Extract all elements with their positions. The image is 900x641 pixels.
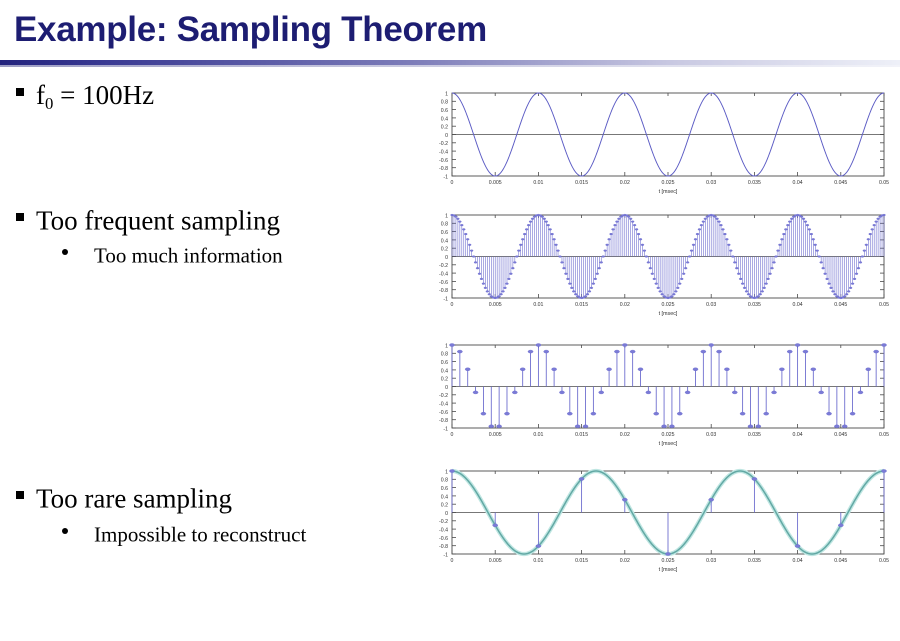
svg-text:0.4: 0.4 (441, 238, 448, 244)
svg-text:0.03: 0.03 (706, 302, 716, 308)
svg-text:0.8: 0.8 (441, 222, 448, 228)
plot-reconstruct: -1-0.8-0.6-0.4-0.200.20.40.60.8100.0050.… (418, 464, 890, 580)
svg-text:0.04: 0.04 (793, 558, 803, 564)
svg-text:0.2: 0.2 (441, 503, 448, 509)
svg-text:0.025: 0.025 (662, 558, 675, 564)
svg-text:0.6: 0.6 (441, 108, 448, 114)
chart-aliased-reconstruction: -1-0.8-0.6-0.4-0.200.20.40.60.8100.0050.… (418, 464, 890, 580)
plot-undersampled: -1-0.8-0.6-0.4-0.200.20.40.60.8100.0050.… (418, 338, 890, 454)
svg-text:0.05: 0.05 (879, 302, 889, 308)
bullet-too-rare: Too rare sampling (16, 481, 232, 514)
svg-text:0.005: 0.005 (489, 180, 502, 186)
svg-text:0.2: 0.2 (441, 377, 448, 383)
svg-text:0.04: 0.04 (793, 302, 803, 308)
bullet-too-frequent: Too frequent sampling (16, 203, 280, 236)
square-bullet-icon (16, 491, 24, 499)
svg-text:0.035: 0.035 (748, 432, 761, 438)
svg-text:0.02: 0.02 (620, 558, 630, 564)
svg-text:-1: -1 (443, 552, 448, 558)
svg-text:0: 0 (451, 432, 454, 438)
svg-text:-0.8: -0.8 (439, 418, 448, 424)
chart-undersampled-stem: -1-0.8-0.6-0.4-0.200.20.40.60.8100.0050.… (418, 338, 890, 454)
svg-text:-0.6: -0.6 (439, 158, 448, 164)
bullet-label-too-much-information: Too much information (94, 244, 283, 268)
svg-text:1: 1 (445, 469, 448, 475)
bullet-label-frequency: f0 = 100Hz (36, 80, 154, 110)
svg-text:0.015: 0.015 (575, 180, 588, 186)
svg-text:0.4: 0.4 (441, 116, 448, 122)
svg-text:1: 1 (445, 343, 448, 349)
bullet-frequency: f0 = 100Hz (16, 78, 154, 111)
svg-text:0.035: 0.035 (748, 558, 761, 564)
svg-text:0.045: 0.045 (834, 302, 847, 308)
svg-text:0.015: 0.015 (575, 432, 588, 438)
title-divider-shadow (0, 65, 900, 67)
square-bullet-icon (16, 213, 24, 221)
chart-oversampled-stem: -1-0.8-0.6-0.4-0.200.20.40.60.8100.0050.… (418, 208, 890, 324)
slide-root: Example: Sampling Theorem f0 = 100Hz Too… (0, 0, 900, 641)
svg-text:0.005: 0.005 (489, 558, 502, 564)
svg-text:0.8: 0.8 (441, 100, 448, 106)
svg-text:0.03: 0.03 (706, 558, 716, 564)
svg-text:0.02: 0.02 (620, 432, 630, 438)
svg-text:-1: -1 (443, 296, 448, 302)
chart-continuous-wave: -1-0.8-0.6-0.4-0.200.20.40.60.8100.0050.… (418, 86, 890, 202)
svg-text:0.05: 0.05 (879, 558, 889, 564)
svg-text:0.045: 0.045 (834, 558, 847, 564)
svg-text:-0.6: -0.6 (439, 410, 448, 416)
plot-oversampled: -1-0.8-0.6-0.4-0.200.20.40.60.8100.0050.… (418, 208, 890, 324)
svg-text:0.05: 0.05 (879, 180, 889, 186)
svg-text:0.04: 0.04 (793, 180, 803, 186)
bullet-label-impossible-to-reconstruct: Impossible to reconstruct (94, 523, 306, 547)
svg-text:0: 0 (451, 302, 454, 308)
svg-text:0.025: 0.025 (662, 180, 675, 186)
bullet-label-too-frequent: Too frequent sampling (36, 205, 280, 235)
svg-text:-1: -1 (443, 174, 448, 180)
svg-text:0.015: 0.015 (575, 302, 588, 308)
svg-text:-0.4: -0.4 (439, 150, 448, 156)
page-title: Example: Sampling Theorem (14, 10, 487, 50)
svg-text:0.045: 0.045 (834, 432, 847, 438)
dot-bullet-icon (62, 528, 68, 534)
svg-text:0.01: 0.01 (533, 432, 543, 438)
svg-text:-0.4: -0.4 (439, 272, 448, 278)
bullet-impossible-to-reconstruct: Impossible to reconstruct (62, 521, 306, 548)
svg-text:0.01: 0.01 (533, 180, 543, 186)
svg-text:0.005: 0.005 (489, 302, 502, 308)
svg-text:t [msec]: t [msec] (659, 441, 678, 447)
svg-text:0.6: 0.6 (441, 230, 448, 236)
svg-text:0.005: 0.005 (489, 432, 502, 438)
plot-continuous: -1-0.8-0.6-0.4-0.200.20.40.60.8100.0050.… (418, 86, 890, 202)
svg-text:0: 0 (445, 255, 448, 261)
svg-text:0.6: 0.6 (441, 360, 448, 366)
svg-text:-0.8: -0.8 (439, 544, 448, 550)
svg-text:0.04: 0.04 (793, 432, 803, 438)
svg-text:t [msec]: t [msec] (659, 311, 678, 317)
svg-text:1: 1 (445, 91, 448, 97)
bullet-too-much-information: Too much information (62, 242, 283, 269)
svg-text:-0.2: -0.2 (439, 393, 448, 399)
svg-text:0: 0 (445, 133, 448, 139)
svg-text:0.05: 0.05 (879, 432, 889, 438)
svg-text:0: 0 (445, 511, 448, 517)
svg-text:0.4: 0.4 (441, 368, 448, 374)
svg-text:0.02: 0.02 (620, 302, 630, 308)
svg-text:0: 0 (451, 180, 454, 186)
svg-text:0: 0 (451, 558, 454, 564)
svg-text:-0.6: -0.6 (439, 536, 448, 542)
dot-bullet-icon (62, 249, 68, 255)
svg-text:-0.8: -0.8 (439, 166, 448, 172)
svg-text:0.025: 0.025 (662, 302, 675, 308)
svg-text:-0.2: -0.2 (439, 263, 448, 269)
svg-text:0.2: 0.2 (441, 125, 448, 131)
svg-text:0.2: 0.2 (441, 247, 448, 253)
svg-text:0.025: 0.025 (662, 432, 675, 438)
bullet-label-too-rare: Too rare sampling (36, 483, 232, 513)
svg-text:-0.2: -0.2 (439, 141, 448, 147)
svg-text:t [msec]: t [msec] (659, 567, 678, 573)
svg-text:0.03: 0.03 (706, 180, 716, 186)
svg-text:0.045: 0.045 (834, 180, 847, 186)
svg-text:t [msec]: t [msec] (659, 189, 678, 195)
svg-text:0.01: 0.01 (533, 558, 543, 564)
svg-text:1: 1 (445, 213, 448, 219)
svg-text:0: 0 (445, 385, 448, 391)
square-bullet-icon (16, 88, 24, 96)
svg-text:0.8: 0.8 (441, 352, 448, 358)
svg-text:-0.6: -0.6 (439, 280, 448, 286)
svg-text:0.035: 0.035 (748, 302, 761, 308)
svg-text:-0.2: -0.2 (439, 519, 448, 525)
svg-text:-0.8: -0.8 (439, 288, 448, 294)
slide-header: Example: Sampling Theorem (0, 0, 900, 72)
svg-text:0.4: 0.4 (441, 494, 448, 500)
svg-text:0.03: 0.03 (706, 432, 716, 438)
svg-text:0.015: 0.015 (575, 558, 588, 564)
svg-text:-0.4: -0.4 (439, 528, 448, 534)
svg-text:0.6: 0.6 (441, 486, 448, 492)
svg-text:-1: -1 (443, 426, 448, 432)
svg-text:0.8: 0.8 (441, 478, 448, 484)
svg-text:0.035: 0.035 (748, 180, 761, 186)
svg-text:-0.4: -0.4 (439, 402, 448, 408)
svg-text:0.01: 0.01 (533, 302, 543, 308)
svg-text:0.02: 0.02 (620, 180, 630, 186)
